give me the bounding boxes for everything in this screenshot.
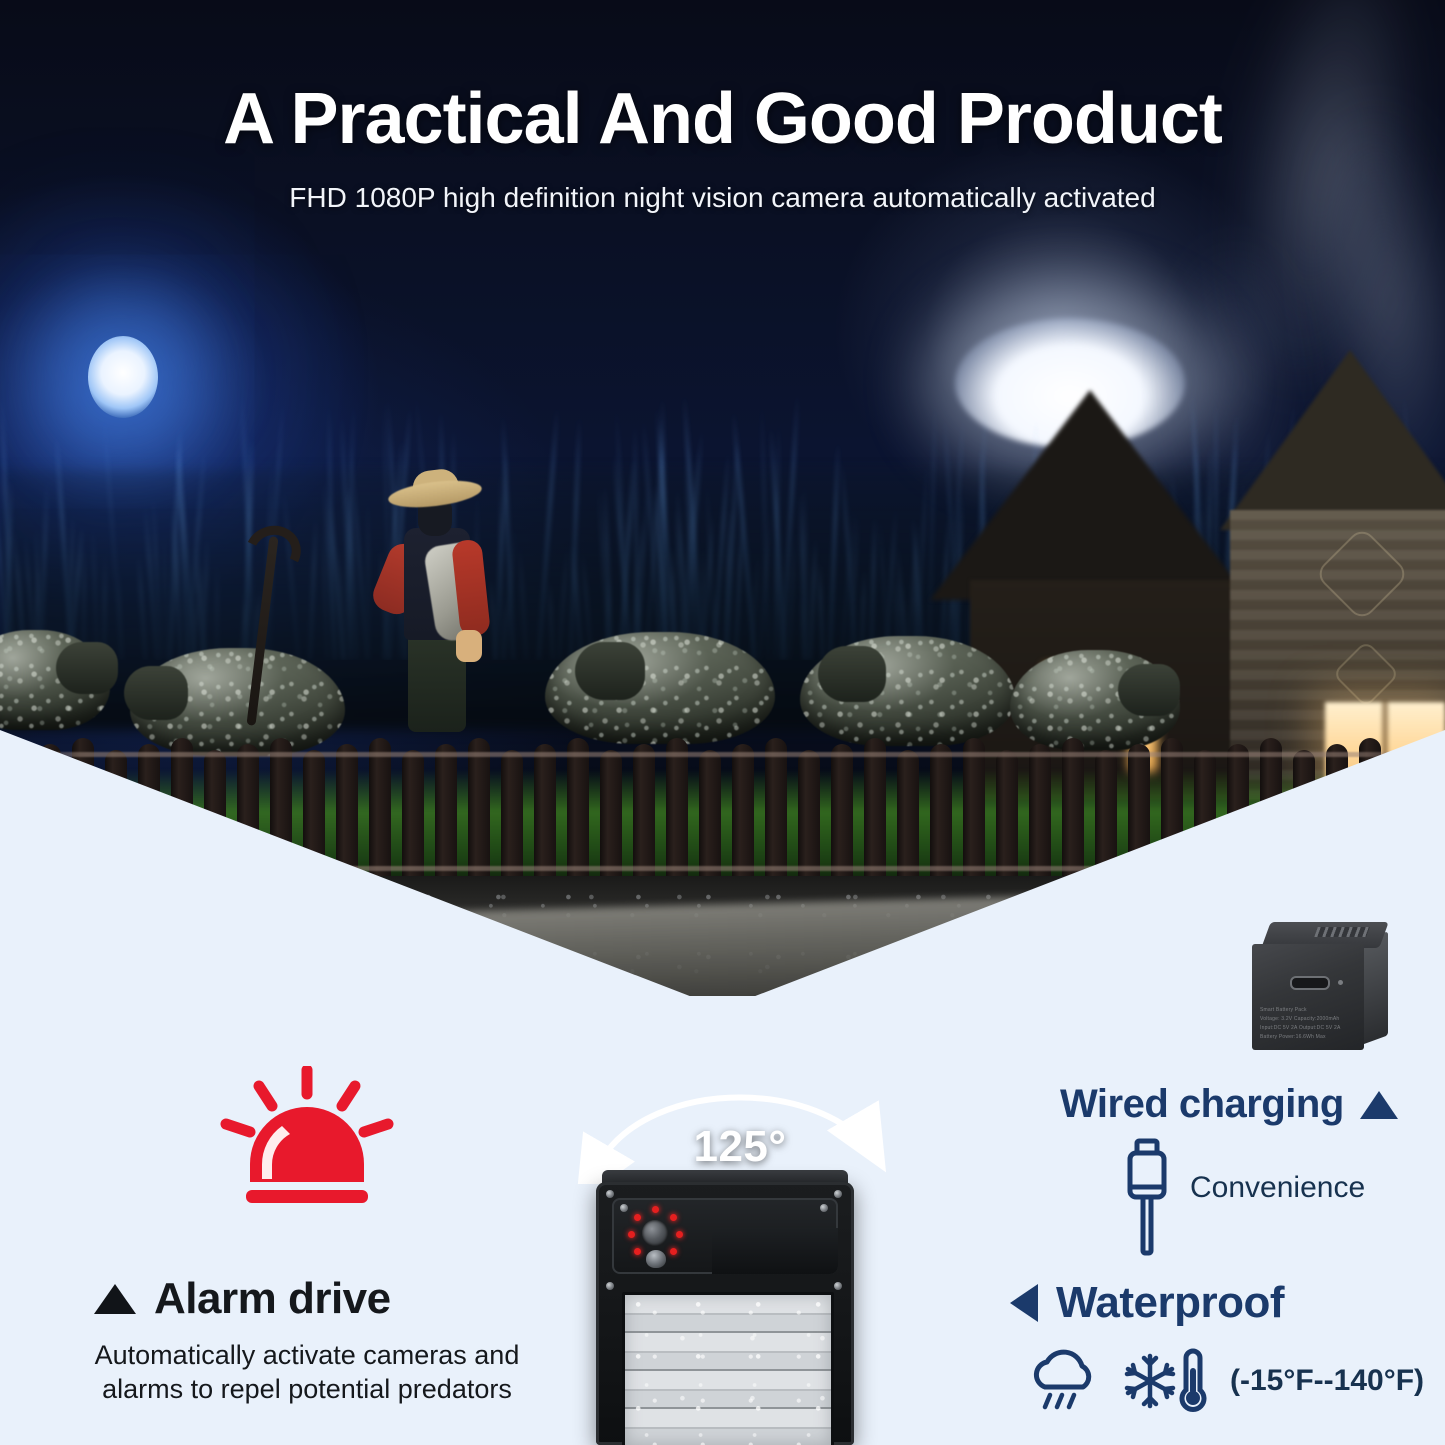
snowflake-thermometer-icon — [1124, 1346, 1210, 1416]
alarm-title: Alarm drive — [154, 1274, 391, 1324]
convenience-label: Convenience — [1190, 1137, 1365, 1205]
ir-led — [652, 1206, 659, 1213]
shepherd-figure — [378, 470, 528, 740]
charging-cable-icon — [1118, 1137, 1176, 1257]
ir-led — [670, 1214, 677, 1221]
alarm-description: Automatically activate cameras and alarm… — [72, 1338, 542, 1406]
camera-sensor-panel — [612, 1198, 838, 1274]
roof-left — [930, 390, 1250, 600]
housing-screw — [834, 1190, 842, 1198]
header-block: A Practical And Good Product FHD 1080P h… — [0, 0, 1445, 240]
page-subtitle: FHD 1080P high definition night vision c… — [0, 160, 1445, 214]
triangle-up-marker-icon — [1360, 1091, 1398, 1119]
housing-screw — [820, 1204, 828, 1212]
page-title: A Practical And Good Product — [0, 0, 1445, 160]
pir-motion-sensor — [646, 1250, 666, 1268]
sheep-head — [575, 642, 645, 700]
battery-pack: Smart Battery Pack Voltage: 3.2V Capacit… — [1252, 922, 1390, 1052]
wired-charging-title: Wired charging — [1060, 1082, 1344, 1127]
waterproof-title-row: Waterproof — [1010, 1278, 1430, 1328]
waterproof-detail-row: (-15°F--140°F) — [1010, 1346, 1430, 1416]
sheep-head — [56, 642, 118, 694]
usb-port-icon — [1290, 976, 1330, 990]
battery-indicator-led — [1338, 980, 1343, 985]
temperature-range: (-15°F--140°F) — [1230, 1364, 1424, 1398]
rain-cloud-icon — [1026, 1349, 1104, 1413]
battery-print-line: Smart Battery Pack — [1260, 1006, 1356, 1015]
ir-led — [634, 1214, 641, 1221]
sheep-head — [124, 666, 188, 720]
ir-led — [670, 1248, 677, 1255]
housing-screw — [620, 1204, 628, 1212]
housing-screw — [834, 1282, 842, 1290]
alarm-title-row: Alarm drive — [72, 1274, 542, 1324]
battery-print: Smart Battery Pack Voltage: 3.2V Capacit… — [1260, 1006, 1356, 1042]
feature-wired-charging: Wired charging Convenience — [1060, 1082, 1420, 1257]
ir-led — [676, 1231, 683, 1238]
battery-print-line: Input:DC 5V 2A Output:DC 5V 2A — [1260, 1024, 1356, 1033]
triangle-left-marker-icon — [1010, 1284, 1038, 1322]
siren-icon-svg — [212, 1066, 402, 1216]
sheep — [0, 630, 110, 730]
battery-front: Smart Battery Pack Voltage: 3.2V Capacit… — [1252, 944, 1364, 1050]
housing-screw — [606, 1282, 614, 1290]
ir-led — [628, 1231, 635, 1238]
battery-side — [1362, 931, 1388, 1044]
device-contour — [712, 1228, 838, 1274]
solar-camera-device — [596, 1182, 854, 1445]
diagonal-wedge-left — [0, 730, 700, 1000]
ir-led — [634, 1248, 641, 1255]
solar-panel — [622, 1292, 834, 1445]
field-of-view-indicator: 125° — [540, 1074, 940, 1184]
angle-value: 125° — [540, 1122, 940, 1172]
feature-waterproof: Waterproof — [1010, 1278, 1430, 1416]
sheep-head — [1118, 664, 1180, 716]
shepherd-hand — [456, 630, 482, 662]
camera-lens — [642, 1220, 668, 1246]
wired-charging-row: Convenience — [1060, 1137, 1420, 1257]
product-infographic: A Practical And Good Product FHD 1080P h… — [0, 0, 1445, 1445]
feature-panel: Smart Battery Pack Voltage: 3.2V Capacit… — [0, 996, 1445, 1445]
roof-gable — [1220, 350, 1445, 530]
battery-print-line: Battery Power:16.6Wh Max — [1260, 1033, 1356, 1042]
wired-charging-title-row: Wired charging — [1060, 1082, 1420, 1127]
housing-screw — [606, 1190, 614, 1198]
siren-icon — [212, 1066, 402, 1216]
sheep-head — [818, 646, 886, 702]
triangle-up-marker-icon — [94, 1284, 136, 1314]
feature-alarm-drive: Alarm drive Automatically activate camer… — [72, 1066, 542, 1406]
waterproof-title: Waterproof — [1056, 1278, 1284, 1328]
battery-vents — [1314, 927, 1370, 937]
battery-print-line: Voltage: 3.2V Capacity:2000mAh — [1260, 1015, 1356, 1024]
